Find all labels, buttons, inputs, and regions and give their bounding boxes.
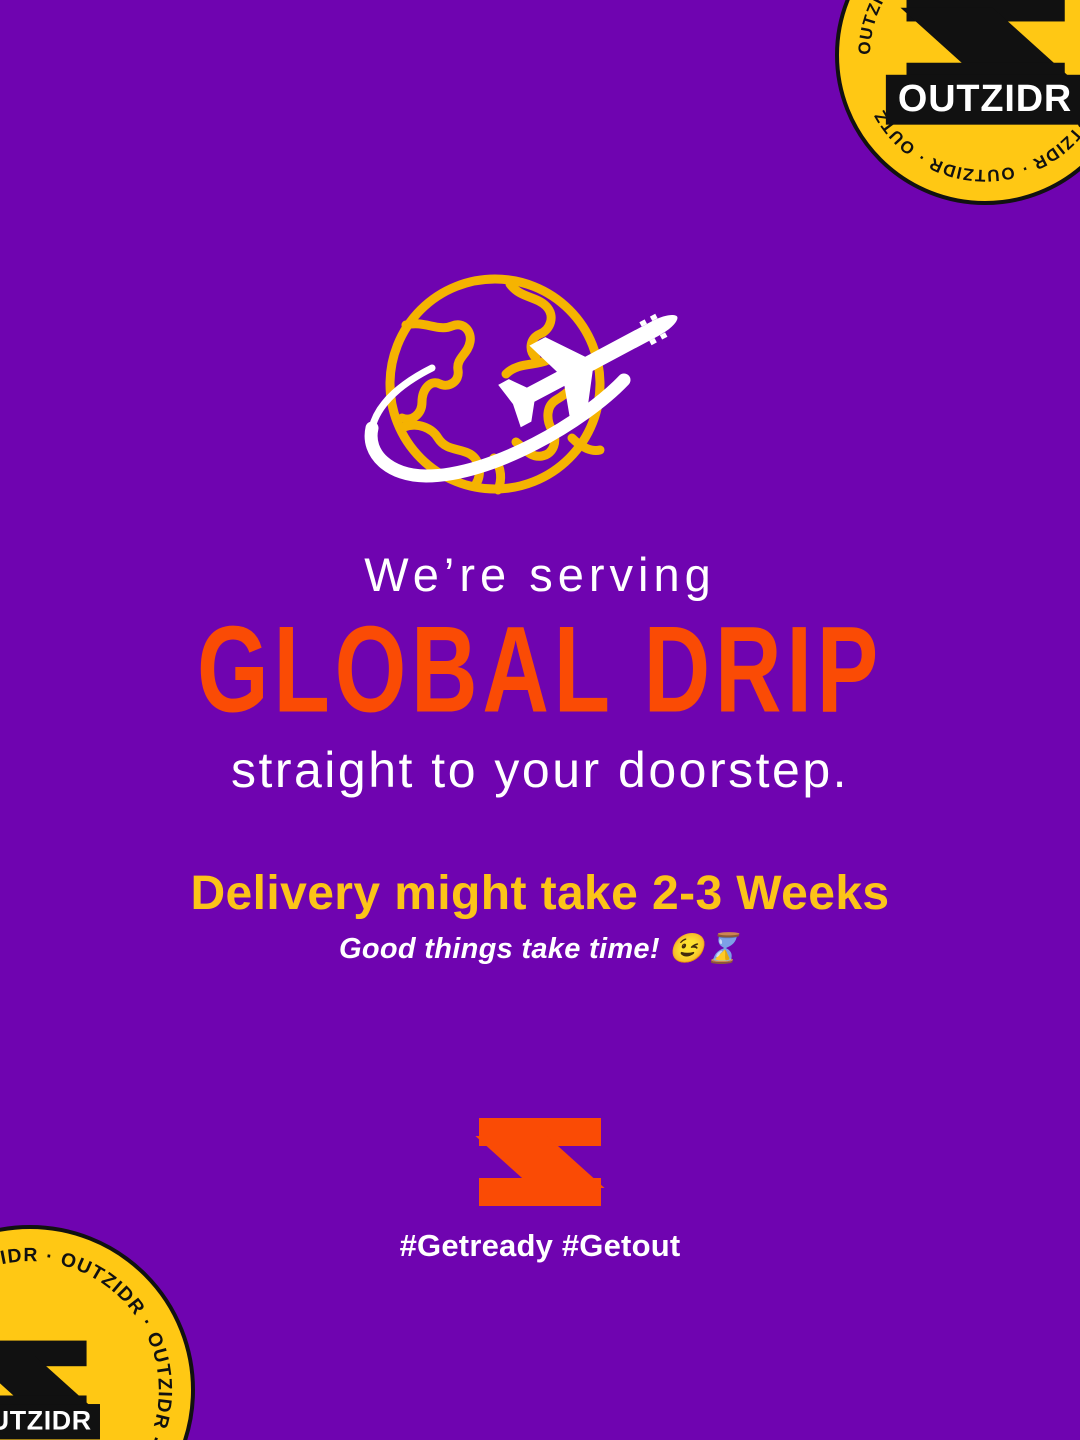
- subhead-text: straight to your doorstep.: [0, 743, 1080, 798]
- reassurance-text: Good things take time! 😉⌛: [0, 934, 1080, 966]
- badge-wordmark: OUTZIDR: [0, 1404, 100, 1439]
- z-logo-bottom-bar: [479, 1178, 601, 1206]
- hero-illustration: [0, 262, 1080, 512]
- badge-core-bottom-left: OUTZIDR: [0, 1341, 100, 1440]
- delivery-note-text: Delivery might take 2-3 Weeks: [0, 868, 1080, 921]
- brand-z-logo-icon: [479, 1118, 601, 1206]
- copy-block: We’re serving GLOBAL DRIP straight to yo…: [0, 548, 1080, 966]
- headline-text: GLOBAL DRIP: [22, 609, 1059, 732]
- badge-wordmark: OUTZIDR: [886, 75, 1080, 125]
- badge-core-top-right: OUTZIDR: [886, 0, 1080, 125]
- hashtags-text: #Getready #Getout: [400, 1228, 681, 1264]
- brand-badge-top-right: OUTZIDR · OUTZIDR · OUTZIDR · OUTZIDR · …: [835, 0, 1080, 205]
- eyebrow-text: We’re serving: [0, 548, 1080, 603]
- brand-badge-bottom-left: OUTZIDR · OUTZIDR · OUTZIDR · OUTZIDR · …: [0, 1225, 195, 1440]
- poster-canvas: OUTZIDR · OUTZIDR · OUTZIDR · OUTZIDR · …: [0, 0, 1080, 1440]
- globe-with-airplane-icon: [360, 262, 720, 512]
